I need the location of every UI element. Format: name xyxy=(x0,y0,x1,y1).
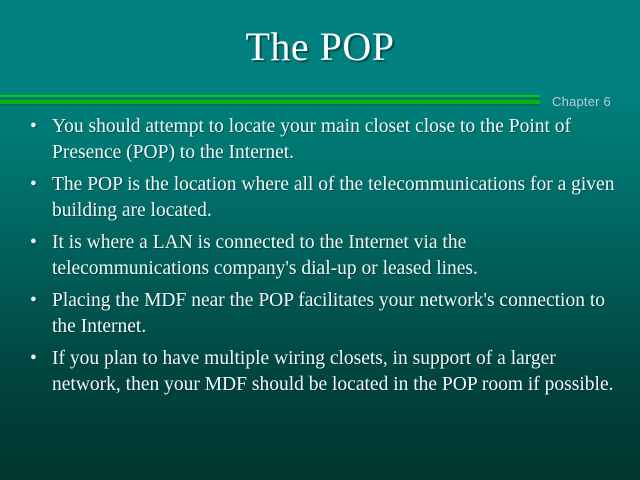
list-item-text: Placing the MDF near the POP facilitates… xyxy=(52,288,622,340)
list-item: • You should attempt to locate your main… xyxy=(18,114,622,166)
list-item-text: You should attempt to locate your main c… xyxy=(52,114,622,166)
slide-body-content: • You should attempt to locate your main… xyxy=(18,114,622,398)
list-item: • If you plan to have multiple wiring cl… xyxy=(18,346,622,398)
bullet-dot-icon: • xyxy=(30,114,44,140)
chapter-label: Chapter 6 xyxy=(552,93,611,110)
title-divider-bar xyxy=(0,95,540,106)
list-item: • Placing the MDF near the POP facilitat… xyxy=(18,288,622,340)
bullet-dot-icon: • xyxy=(30,172,44,198)
list-item-text: The POP is the location where all of the… xyxy=(52,172,622,224)
presentation-slide: The POP Chapter 6 • You should attempt t… xyxy=(0,0,640,480)
bullet-dot-icon: • xyxy=(30,288,44,314)
list-item: • The POP is the location where all of t… xyxy=(18,172,622,224)
divider-shadow-line xyxy=(0,104,540,106)
bullet-dot-icon: • xyxy=(30,346,44,372)
page-title: The POP xyxy=(245,24,394,70)
slide-title-area: The POP xyxy=(0,24,640,70)
list-item-text: If you plan to have multiple wiring clos… xyxy=(52,346,622,398)
list-item: • It is where a LAN is connected to the … xyxy=(18,230,622,282)
bullet-dot-icon: • xyxy=(30,230,44,256)
list-item-text: It is where a LAN is connected to the In… xyxy=(52,230,622,282)
